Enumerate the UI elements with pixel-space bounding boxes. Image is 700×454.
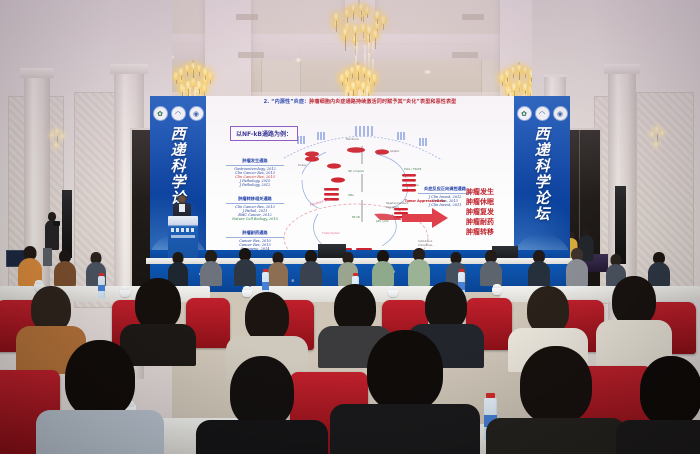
audience-member <box>200 250 222 286</box>
audience-member <box>36 340 164 454</box>
ceiling-vent <box>462 14 484 20</box>
svg-text:TAK1 / TRAF6: TAK1 / TRAF6 <box>404 167 422 171</box>
svg-text:chemokines: chemokines <box>418 244 433 247</box>
pa-speaker-tower <box>62 190 72 258</box>
svg-text:IKK complex: IKK complex <box>348 169 364 173</box>
audience-member <box>408 248 430 286</box>
institution-emblem-teal-icon: ◉ <box>554 107 567 120</box>
banner-char: 递 <box>170 144 185 159</box>
ceiling-vent <box>236 14 258 20</box>
outcome-item: 肿瘤耐药 <box>466 218 494 227</box>
banner-char: 科 <box>534 160 549 175</box>
conference-room-photo: ✿ ◠ ◉ 西 递 科 学 论 ✿ ◠ ◉ 西 递 科 <box>0 0 700 454</box>
reference-block-metastasis: 肿瘤转移相关通路 Clin Cancer Res, 2013 J Pathol,… <box>226 196 284 221</box>
institution-emblem-green-icon: ✿ <box>518 107 531 120</box>
institution-emblem-blue-icon: ◠ <box>172 107 185 120</box>
audience-member <box>616 356 700 454</box>
outcome-item: 肿瘤转移 <box>466 228 494 237</box>
audience-member <box>330 330 480 454</box>
svg-text:IκBα: IκBα <box>348 193 354 197</box>
pillar-capital <box>110 64 148 74</box>
audience-member <box>300 250 322 286</box>
right-banner-text: 西 递 科 学 论 坛 <box>514 128 570 223</box>
audience-member <box>234 248 256 286</box>
arrow-label: Tumor Aggressiveness <box>402 200 448 204</box>
audience-member <box>486 346 626 454</box>
reference-heading: 炎症反应正向调控通路 <box>418 186 472 194</box>
chandelier <box>330 0 388 70</box>
wall-sconce <box>48 128 66 154</box>
reference-item: J Pathology, 2012 <box>226 183 284 187</box>
left-banner-logos: ✿ ◠ ◉ <box>150 107 206 120</box>
right-banner-logos: ✿ ◠ ◉ <box>514 107 570 120</box>
institution-emblem-teal-icon: ◉ <box>190 107 203 120</box>
audience-member <box>528 250 550 286</box>
outcome-item: 肿瘤复发 <box>466 208 494 217</box>
svg-text:Adaptor: Adaptor <box>390 150 399 153</box>
svg-text:Kinase: Kinase <box>298 164 306 167</box>
pa-speaker-tower <box>615 186 626 264</box>
institution-emblem-green-icon: ✿ <box>154 107 167 120</box>
outcomes-list: 肿瘤发生 肿瘤休眠 肿瘤复发 肿瘤耐药 肿瘤转移 <box>466 188 510 237</box>
svg-text:Transcription: Transcription <box>322 231 340 235</box>
stage-backdrop: ✿ ◠ ◉ 西 递 科 学 论 ✿ ◠ ◉ 西 递 科 <box>150 96 570 268</box>
banner-char: 递 <box>534 144 549 159</box>
svg-text:NF-κB: NF-κB <box>352 215 360 219</box>
banner-char: 坛 <box>534 208 549 223</box>
ceiling-vent <box>238 52 264 58</box>
audience-member <box>566 248 588 286</box>
water-bottle <box>98 276 105 298</box>
banner-char: 西 <box>534 128 549 143</box>
audience-member <box>54 250 76 286</box>
reference-heading: 肿瘤发生通路 <box>226 158 284 166</box>
audience-member <box>268 252 288 286</box>
banner-char: 学 <box>170 176 185 191</box>
wall-sconce <box>648 126 666 152</box>
audience-member <box>372 250 394 286</box>
outcome-item: 肿瘤休眠 <box>466 198 494 207</box>
camera <box>53 221 60 226</box>
outcome-item: 肿瘤发生 <box>466 188 494 197</box>
reference-heading: 肿瘤转移相关通路 <box>226 196 284 204</box>
reference-item: Nature Cell Biology, 2010 <box>226 217 284 221</box>
presentation-slide: 2. “内源性”炎症：肿瘤细胞内炎症通路持续激活同时赋予其“炎化”表型和恶性表型… <box>206 96 514 268</box>
reference-block-tumorigenesis: 肿瘤发生通路 Gastroenterology, 2012 Clin Cance… <box>226 158 284 188</box>
reference-heading: 肿瘤耐药通路 <box>226 230 284 238</box>
banner-char: 科 <box>170 160 185 175</box>
right-banner: ✿ ◠ ◉ 西 递 科 学 论 坛 <box>514 96 570 268</box>
banner-char: 论 <box>534 192 549 207</box>
ceiling-vent <box>452 52 478 58</box>
audience-member <box>196 356 328 454</box>
pillar-capital <box>20 68 54 78</box>
banner-char: 学 <box>534 176 549 191</box>
svg-text:Cytokines &: Cytokines & <box>418 240 433 243</box>
ceiling-downlight <box>424 70 431 74</box>
tea-cup <box>492 286 502 295</box>
tumor-aggressiveness-arrow <box>402 208 448 228</box>
audience-member <box>480 250 502 286</box>
institution-emblem-blue-icon: ◠ <box>536 107 549 120</box>
svg-text:Feedback loop: Feedback loop <box>308 197 331 207</box>
pillar-capital <box>604 64 640 74</box>
reference-block-inflammation-regulation: 炎症反应正向调控通路 J Clin Invest, 2012 Cell Res,… <box>418 186 472 207</box>
svg-text:Membrane: Membrane <box>346 138 359 141</box>
ceiling-downlight <box>295 58 302 62</box>
banner-char: 西 <box>170 128 185 143</box>
